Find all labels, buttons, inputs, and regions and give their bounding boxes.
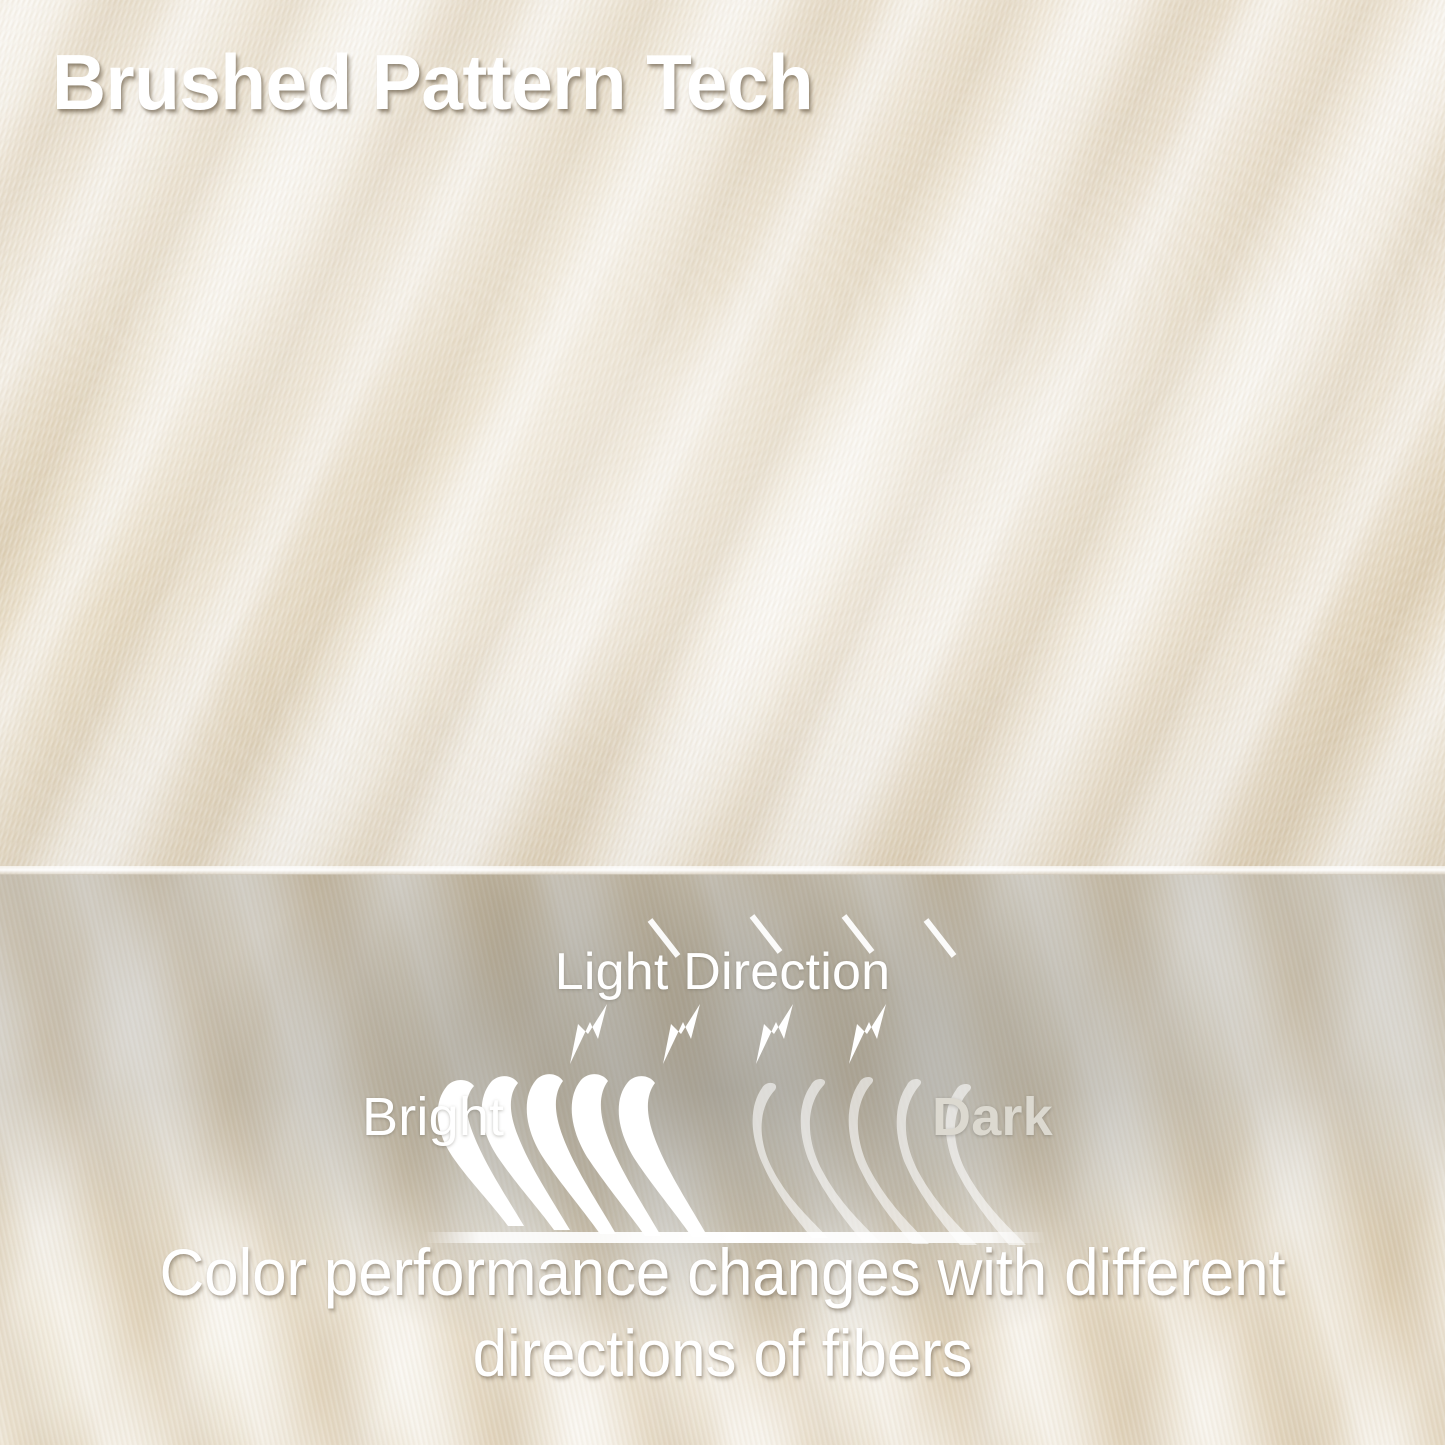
top-panel-light-falloff	[0, 0, 1445, 874]
feature-caption: Color performance changes with different…	[43, 1232, 1401, 1393]
arrow-down-left-icon	[570, 1004, 607, 1064]
panel-divider	[0, 866, 1445, 875]
product-feature-poster: Brushed Pattern Tech	[0, 0, 1445, 1445]
page-title: Brushed Pattern Tech	[52, 42, 813, 124]
dark-label: Dark	[932, 1086, 1053, 1148]
caption-line-1: Color performance changes with different	[43, 1232, 1401, 1313]
arrow-down-left-icon	[756, 1004, 793, 1064]
fiber-dark	[801, 1079, 880, 1242]
caption-line-2: directions of fibers	[43, 1313, 1401, 1394]
light-arrow-group	[570, 1004, 886, 1064]
arrow-down-left-icon	[849, 1004, 886, 1064]
fiber-dark	[849, 1077, 929, 1244]
top-fabric-panel	[0, 0, 1445, 874]
arrow-down-left-icon	[663, 1004, 700, 1064]
light-direction-label: Light Direction	[0, 942, 1445, 1002]
bright-label: Bright	[362, 1086, 504, 1148]
